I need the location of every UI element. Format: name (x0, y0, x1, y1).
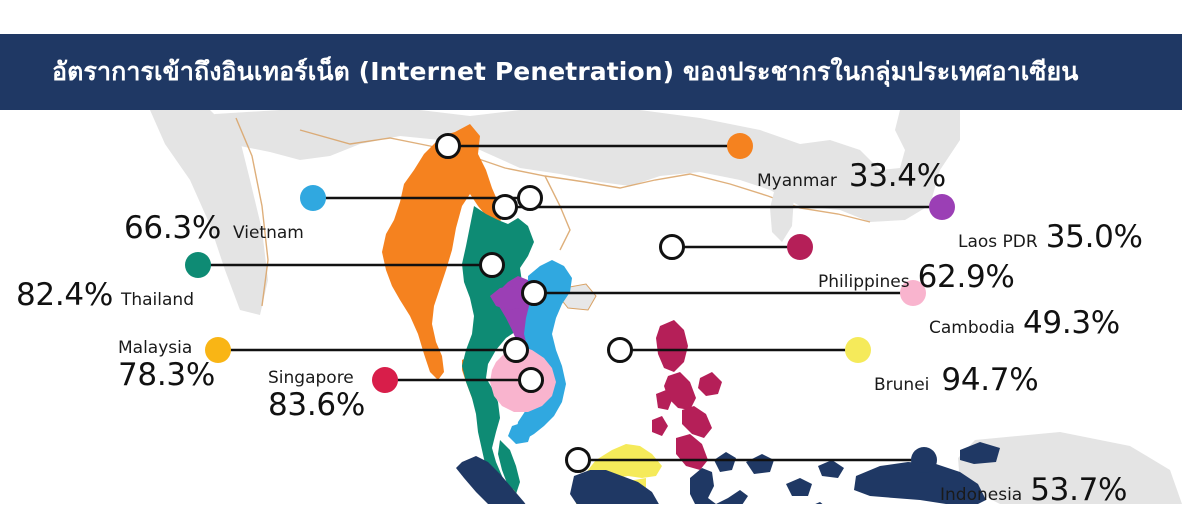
callout-laos: Laos PDR 35.0% (958, 219, 1143, 255)
callout-singapore: Singapore 83.6% (268, 368, 365, 423)
callout-malaysia: Malaysia 78.3% (118, 338, 215, 393)
callout-label-brunei: Brunei (874, 375, 929, 395)
callout-value-cambodia: 49.3% (1023, 305, 1120, 341)
callout-value-myanmar: 33.4% (849, 158, 946, 194)
callout-label-laos: Laos PDR (958, 232, 1038, 252)
header-band: อัตราการเข้าถึงอินเทอร์เน็ต (Internet Pe… (0, 34, 1182, 110)
legend-dot-philippines[interactable] (787, 234, 813, 260)
callout-value-indonesia: 53.7% (1030, 472, 1127, 508)
callout-label-indonesia: Indonesia (940, 485, 1022, 505)
callout-label-vietnam: Vietnam (233, 223, 304, 243)
callout-value-singapore: 83.6% (268, 388, 365, 423)
callout-vietnam: 66.3% Vietnam (124, 210, 304, 246)
callout-label-thailand: Thailand (121, 290, 194, 310)
callout-label-myanmar: Myanmar (757, 171, 837, 191)
country-philippines[interactable] (652, 320, 722, 470)
page-title: อัตราการเข้าถึงอินเทอร์เน็ต (Internet Pe… (0, 58, 1078, 86)
callout-thailand: 82.4% Thailand (16, 277, 194, 313)
callout-philippines: Philippines 62.9% (818, 259, 1015, 295)
callout-label-malaysia: Malaysia (118, 338, 215, 358)
legend-dot-myanmar[interactable] (727, 133, 753, 159)
callout-label-philippines: Philippines (818, 272, 910, 292)
callout-cambodia: Cambodia 49.3% (929, 305, 1120, 341)
legend-dot-thailand[interactable] (185, 252, 211, 278)
callout-value-philippines: 62.9% (918, 259, 1015, 295)
legend-dot-brunei[interactable] (845, 337, 871, 363)
legend-dot-vietnam[interactable] (300, 185, 326, 211)
callout-brunei: Brunei 94.7% (874, 362, 1038, 398)
legend-dot-indonesia[interactable] (911, 447, 937, 473)
callout-value-malaysia: 78.3% (118, 358, 215, 393)
infographic-canvas: อัตราการเข้าถึงอินเทอร์เน็ต (Internet Pe… (0, 0, 1182, 504)
callout-value-brunei: 94.7% (941, 362, 1038, 398)
callout-myanmar: Myanmar 33.4% (757, 158, 946, 194)
callout-label-singapore: Singapore (268, 368, 365, 388)
callout-indonesia: Indonesia 53.7% (940, 472, 1127, 508)
legend-dot-singapore[interactable] (372, 367, 398, 393)
callout-label-cambodia: Cambodia (929, 318, 1015, 338)
callout-value-vietnam: 66.3% (124, 210, 221, 246)
callout-value-thailand: 82.4% (16, 277, 113, 313)
legend-dot-laos[interactable] (929, 194, 955, 220)
callout-value-laos: 35.0% (1046, 219, 1143, 255)
